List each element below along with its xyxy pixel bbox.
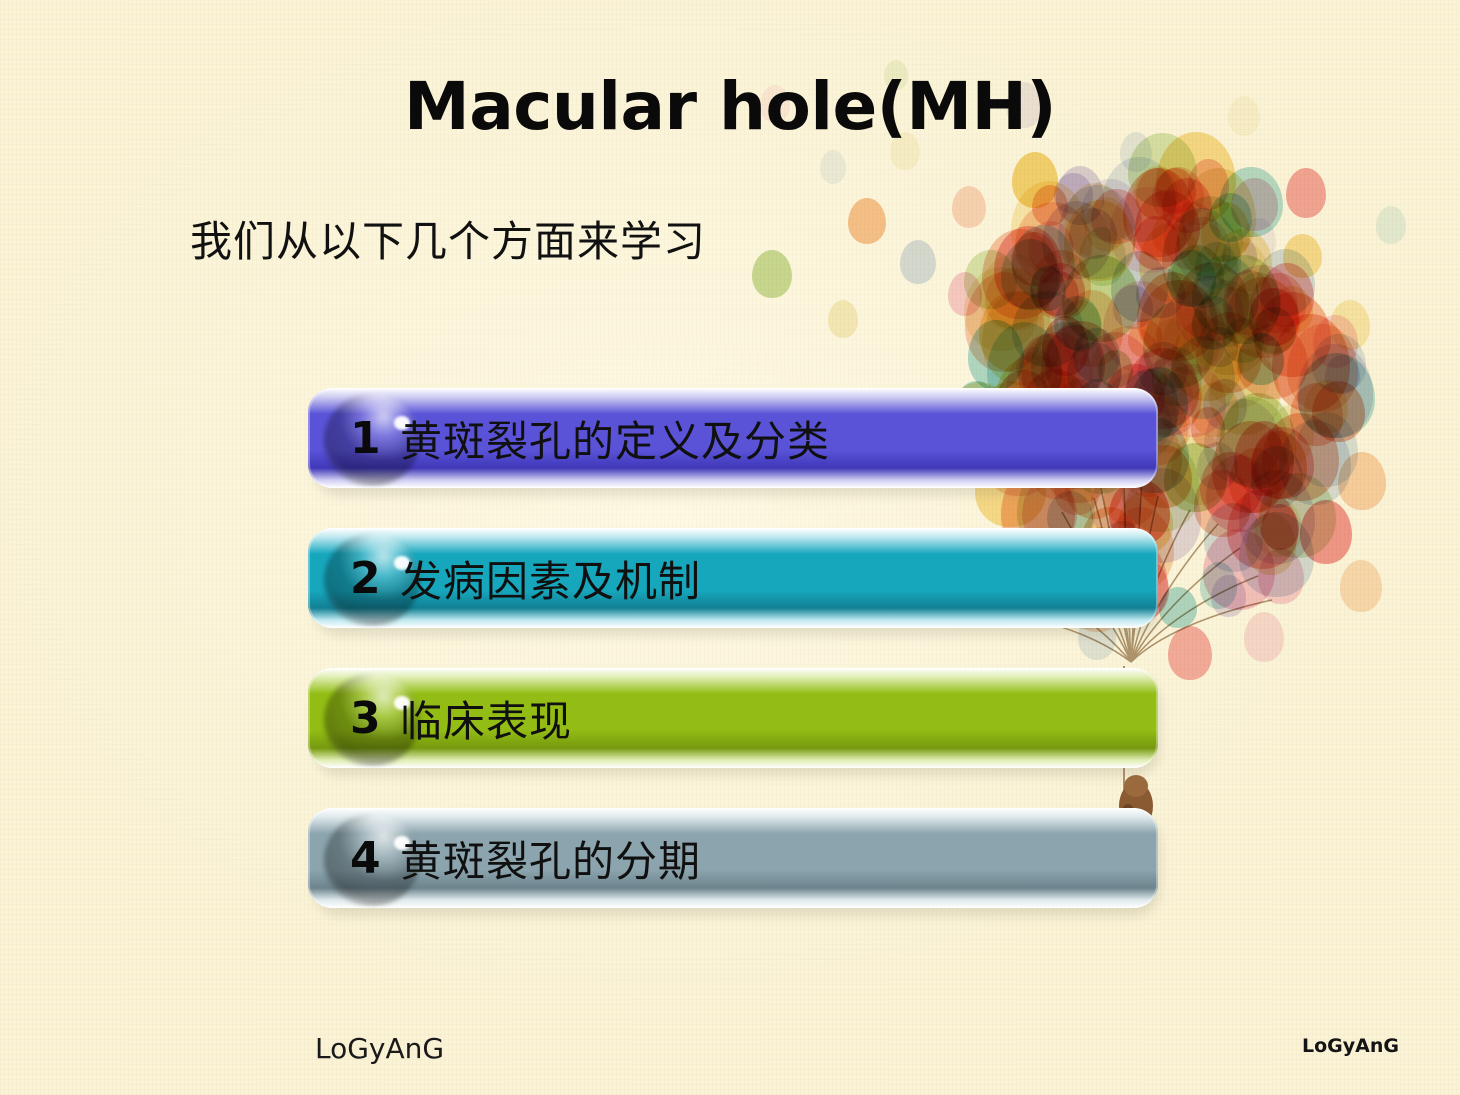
balloon-icon [820,150,846,184]
balloon-icon [1138,342,1188,395]
balloon-icon [1079,227,1126,286]
balloon-icon [1136,267,1184,318]
balloon-icon [1134,166,1182,219]
balloon-icon [1016,347,1052,387]
balloon-icon [979,254,1050,332]
balloon-icon [1191,382,1239,438]
balloon-icon [1199,280,1253,347]
balloon-icon [1298,353,1375,438]
balloon-icon [1222,235,1257,275]
balloon-icon [1251,427,1313,499]
balloon-icon [1111,251,1168,323]
balloon-icon [1164,202,1220,270]
balloon-icon [1012,152,1058,208]
balloon-icon [1286,168,1326,218]
balloon-icon [994,226,1063,309]
balloon-icon [752,250,792,298]
balloon-icon [1062,290,1123,367]
balloon-icon [1272,314,1350,412]
balloon-icon [1192,296,1236,350]
balloon-icon [1113,285,1153,330]
balloon-icon [1195,242,1238,289]
balloon-icon [1283,234,1322,278]
balloon-icon [1212,421,1289,513]
agenda-item-label: 临床表现 [400,668,572,768]
footer-left-logo: LoGyAnG [315,1032,444,1065]
balloon-icon [1190,287,1269,375]
balloon-icon [1191,407,1226,448]
agenda-item-1[interactable]: 1 黄斑裂孔的定义及分类 [308,388,1158,490]
balloon-icon [1038,271,1079,316]
balloon-icon [1238,333,1285,385]
balloon-icon [964,267,1038,351]
balloon-icon [1001,239,1061,311]
balloon-icon [1304,380,1348,434]
balloon-icon [1235,272,1282,330]
balloon-icon [1234,421,1295,497]
balloon-icon [1229,448,1281,513]
balloon-icon [1209,255,1280,344]
balloon-icon [1259,473,1336,558]
balloon-icon [1246,513,1296,576]
balloon-icon [1098,350,1133,387]
agenda-item-number: 1 [350,388,381,488]
balloon-icon [1251,431,1307,499]
balloon-icon [1158,364,1226,437]
balloon-icon [1262,413,1340,502]
agenda-item-number: 2 [350,528,381,628]
balloon-icon [1300,500,1352,564]
balloon-icon [1242,218,1276,262]
balloon-icon [1244,612,1284,662]
balloon-icon [1313,315,1358,368]
balloon-icon [1085,197,1129,251]
balloon-icon [948,272,982,316]
balloon-icon [1037,263,1085,319]
balloon-icon [1216,397,1289,486]
balloon-icon [1156,132,1235,225]
balloon-icon [1312,334,1365,392]
balloon-icon [1162,208,1241,308]
balloon-icon [1287,324,1358,412]
balloon-icon [1152,347,1202,407]
balloon-icon [1073,328,1120,382]
balloon-icon [985,268,1043,329]
agenda-list: 1 黄斑裂孔的定义及分类 2 发病因素及机制 3 临床表现 [308,388,1158,948]
balloon-icon [1140,280,1218,362]
balloon-icon [1060,300,1102,352]
balloon-icon [1192,255,1260,335]
balloon-icon [982,291,1061,384]
balloon-icon [1201,202,1250,262]
balloon-icon [1133,216,1179,270]
balloon-icon [1171,245,1224,305]
balloon-icon [1279,420,1351,505]
balloon-icon [1239,470,1314,564]
balloon-icon [1209,349,1280,435]
balloon-icon [1376,206,1406,244]
balloon-icon [1209,193,1252,241]
balloon-icon [1137,272,1207,360]
balloon-icon [1340,560,1382,612]
balloon-icon [1223,318,1264,363]
balloon-icon [1109,187,1187,273]
slide-canvas: Macular hole(MH) 我们从以下几个方面来学习 1 黄斑裂孔的定义及… [0,0,1460,1095]
balloon-icon [1042,201,1111,279]
agenda-item-label: 黄斑裂孔的分期 [400,808,701,908]
balloon-icon [1062,255,1141,343]
balloon-icon [1227,489,1298,569]
balloon-icon [1268,405,1314,463]
balloon-icon [1217,242,1268,298]
balloon-icon [1031,250,1091,320]
balloon-icon [1058,185,1136,279]
balloon-icon [1162,178,1212,232]
balloon-icon [1295,412,1359,487]
balloon-icon [1065,183,1126,256]
balloon-icon [1128,133,1197,207]
balloon-icon [1143,301,1214,388]
balloon-icon [1091,189,1142,244]
balloon-icon [1330,300,1370,350]
balloon-icon [1338,452,1386,510]
balloon-icon [1153,319,1189,361]
balloon-icon [1081,179,1140,242]
balloon-icon [1254,292,1331,377]
balloon-icon [1163,308,1221,373]
balloon-icon [1239,512,1314,597]
balloon-icon [1064,200,1134,281]
balloon-icon [828,300,858,338]
balloon-icon [1030,266,1066,311]
balloon-icon [1155,168,1196,214]
balloon-icon [952,186,986,228]
page-subtitle: 我们从以下几个方面来学习 [190,208,706,269]
balloon-icon [1211,575,1245,617]
balloon-icon [1123,168,1195,257]
balloon-icon [1223,270,1275,335]
balloon-icon [1028,221,1074,273]
balloon-icon [1312,381,1365,442]
agenda-item-2[interactable]: 2 发病因素及机制 [308,528,1158,630]
balloon-icon [1171,318,1243,402]
balloon-icon [1054,173,1092,214]
balloon-icon [1054,296,1101,350]
balloon-icon [1201,327,1237,367]
balloon-icon [1200,562,1237,609]
balloon-icon [1205,328,1272,408]
balloon-icon [1203,379,1247,431]
balloon-icon [965,272,1045,372]
balloon-icon [1176,262,1249,341]
balloon-icon [1204,503,1264,572]
balloon-icon [1011,181,1087,272]
balloon-icon [1254,498,1302,558]
balloon-icon [1056,166,1105,225]
balloon-icon [1194,470,1251,537]
balloon-icon [1012,291,1083,367]
balloon-icon [1252,307,1297,354]
balloon-icon [982,229,1058,318]
balloon-icon [1249,288,1299,345]
balloon-icon [1213,229,1272,292]
balloon-icon [968,320,1024,391]
balloon-icon [1135,190,1200,262]
balloon-icon [1168,626,1212,680]
balloon-icon [964,250,1017,309]
balloon-icon [1256,249,1315,316]
balloon-icon [1153,373,1192,415]
balloon-icon [1258,548,1304,604]
balloon-icon [1136,168,1178,220]
agenda-item-3[interactable]: 3 临床表现 [308,668,1158,770]
balloon-icon [1103,281,1180,373]
balloon-icon [1206,455,1272,532]
balloon-icon [1250,273,1306,333]
balloon-icon [1260,263,1314,327]
balloon-icon [1181,168,1256,262]
balloon-icon [1204,399,1281,484]
balloon-icon [1197,442,1238,490]
balloon-icon [1139,223,1202,302]
balloon-icon [1231,178,1278,232]
balloon-icon [1251,446,1303,508]
balloon-icon [1271,286,1313,335]
balloon-icon [1128,319,1163,358]
balloon-icon [1226,277,1300,357]
balloon-icon [1177,196,1242,278]
balloon-icon [979,291,1053,372]
agenda-item-4[interactable]: 4 黄斑裂孔的分期 [308,808,1158,910]
balloon-icon [1015,202,1092,283]
balloon-icon [1186,223,1226,272]
balloon-icon [1159,587,1197,629]
agenda-item-number: 3 [350,668,381,768]
balloon-icon [1042,316,1089,376]
balloon-icon [900,240,936,284]
balloon-icon [1219,167,1283,238]
balloon-icon [1167,250,1216,306]
balloon-icon [1261,504,1299,550]
balloon-icon [1176,276,1244,349]
balloon-icon [1170,336,1235,419]
agenda-item-label: 发病因素及机制 [400,528,701,628]
balloon-icon [1152,167,1204,223]
balloon-icon [1032,185,1068,226]
balloon-icon [1297,344,1372,438]
balloon-icon [1290,383,1344,445]
balloon-icon [1200,452,1261,520]
agenda-item-label: 黄斑裂孔的定义及分类 [400,388,830,488]
balloon-icon [848,198,886,244]
balloon-icon [1225,265,1298,342]
balloon-icon [1237,324,1308,399]
balloon-icon [1188,159,1229,210]
page-title: Macular hole(MH) [0,72,1460,141]
footer-right-logo: LoGyAnG [1302,1035,1399,1057]
balloon-icon [1152,214,1186,254]
balloon-icon [1171,433,1228,505]
balloon-icon [1219,393,1296,489]
balloon-icon [1011,232,1057,286]
balloon-icon [1203,529,1275,610]
agenda-item-number: 4 [350,808,381,908]
balloon-icon [1196,312,1262,393]
balloon-icon [1325,355,1361,394]
balloon-icon [1157,291,1226,376]
balloon-icon [1069,208,1117,259]
balloon-icon [1164,443,1227,512]
balloon-icon [1175,217,1231,282]
balloon-icon [1102,157,1176,242]
balloon-icon [1012,225,1075,300]
